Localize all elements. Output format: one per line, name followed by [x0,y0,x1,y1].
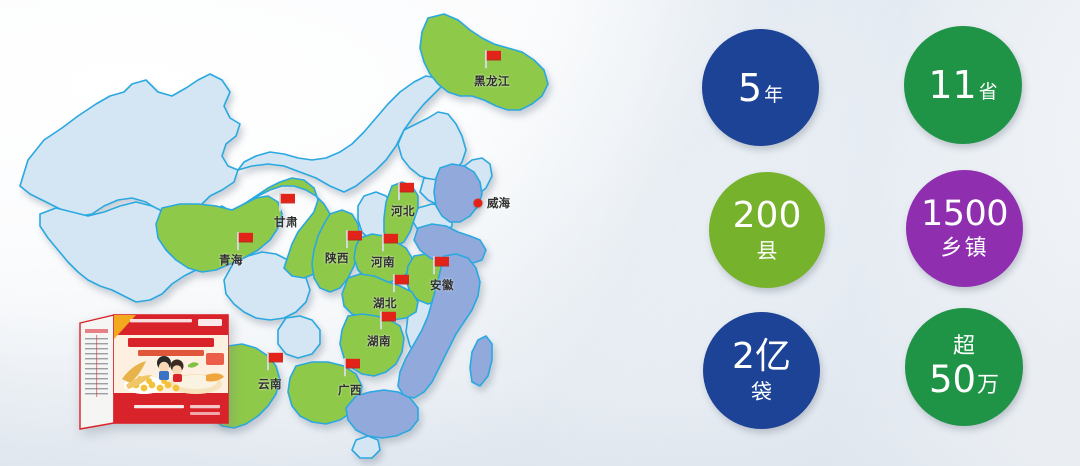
province-label: 广西 [338,382,362,398]
province-taiwan-coastal [470,336,492,386]
province-label: 陕西 [325,250,349,266]
stat-provinces-unit: 省 [979,83,998,102]
product-box [78,305,230,433]
province-label: 河北 [391,203,415,219]
stat-bags-unit: 袋 [751,382,772,403]
stat-towns-value: 1500 [921,197,1008,232]
flag-marker-icon [341,356,363,378]
flag-marker-icon [234,230,256,252]
flag-marker-icon [395,180,417,202]
flag-marker-icon [377,309,399,331]
stat-provinces-value: 11 [928,66,976,104]
flag-marker-icon [276,191,298,213]
stat-bubble-years[interactable]: 5 年 [702,29,819,146]
stat-bubble-towns[interactable]: 1500 乡镇 [906,170,1023,287]
province-hainan [352,436,380,458]
stat-people-value: 50 [929,361,976,398]
stat-provinces-content: 11 省 [928,66,997,104]
stat-people-content: 50 万 [929,361,999,398]
stat-counties-unit: 县 [757,241,778,262]
province-label: 黑龙江 [474,73,510,89]
province-label: 安徽 [430,277,454,293]
infographic-stage: 黑龙江甘肃青海陕西河北河南安徽湖北湖南云南广西威海 [0,0,1080,466]
stat-towns-unit: 乡镇 [940,238,988,260]
province-label: 湖南 [367,333,391,349]
map-panel: 黑龙江甘肃青海陕西河北河南安徽湖北湖南云南广西威海 [0,0,620,466]
province-xinjiang [20,74,240,216]
city-dot-marker-icon [474,199,483,208]
stat-bubble-counties[interactable]: 200 县 [709,172,825,288]
stat-bubble-bags[interactable]: 2亿 袋 [703,312,820,429]
flag-marker-icon [390,272,412,294]
province-label: 河南 [371,254,395,270]
flag-marker-icon [482,48,504,70]
province-label: 甘肃 [274,214,298,230]
stat-people-prefix: 超 [953,336,975,358]
stat-bubble-provinces[interactable]: 11 省 [904,26,1022,144]
province-label: 青海 [219,252,243,268]
city-label: 威海 [487,195,510,211]
flag-marker-icon [430,254,452,276]
stat-years-content: 5 年 [738,69,783,107]
flag-marker-icon [343,228,365,250]
flag-marker-icon [379,231,401,253]
stat-people-unit: 万 [977,375,999,397]
stat-counties-value: 200 [733,198,802,234]
province-liaoning-coastal [434,164,482,222]
stat-bubble-people[interactable]: 超 50 万 [905,308,1023,426]
stat-years-unit: 年 [764,86,783,105]
flag-marker-icon [264,350,286,372]
stat-bags-value: 2亿 [732,339,791,375]
province-label: 云南 [258,376,282,392]
stat-years-value: 5 [738,69,762,107]
